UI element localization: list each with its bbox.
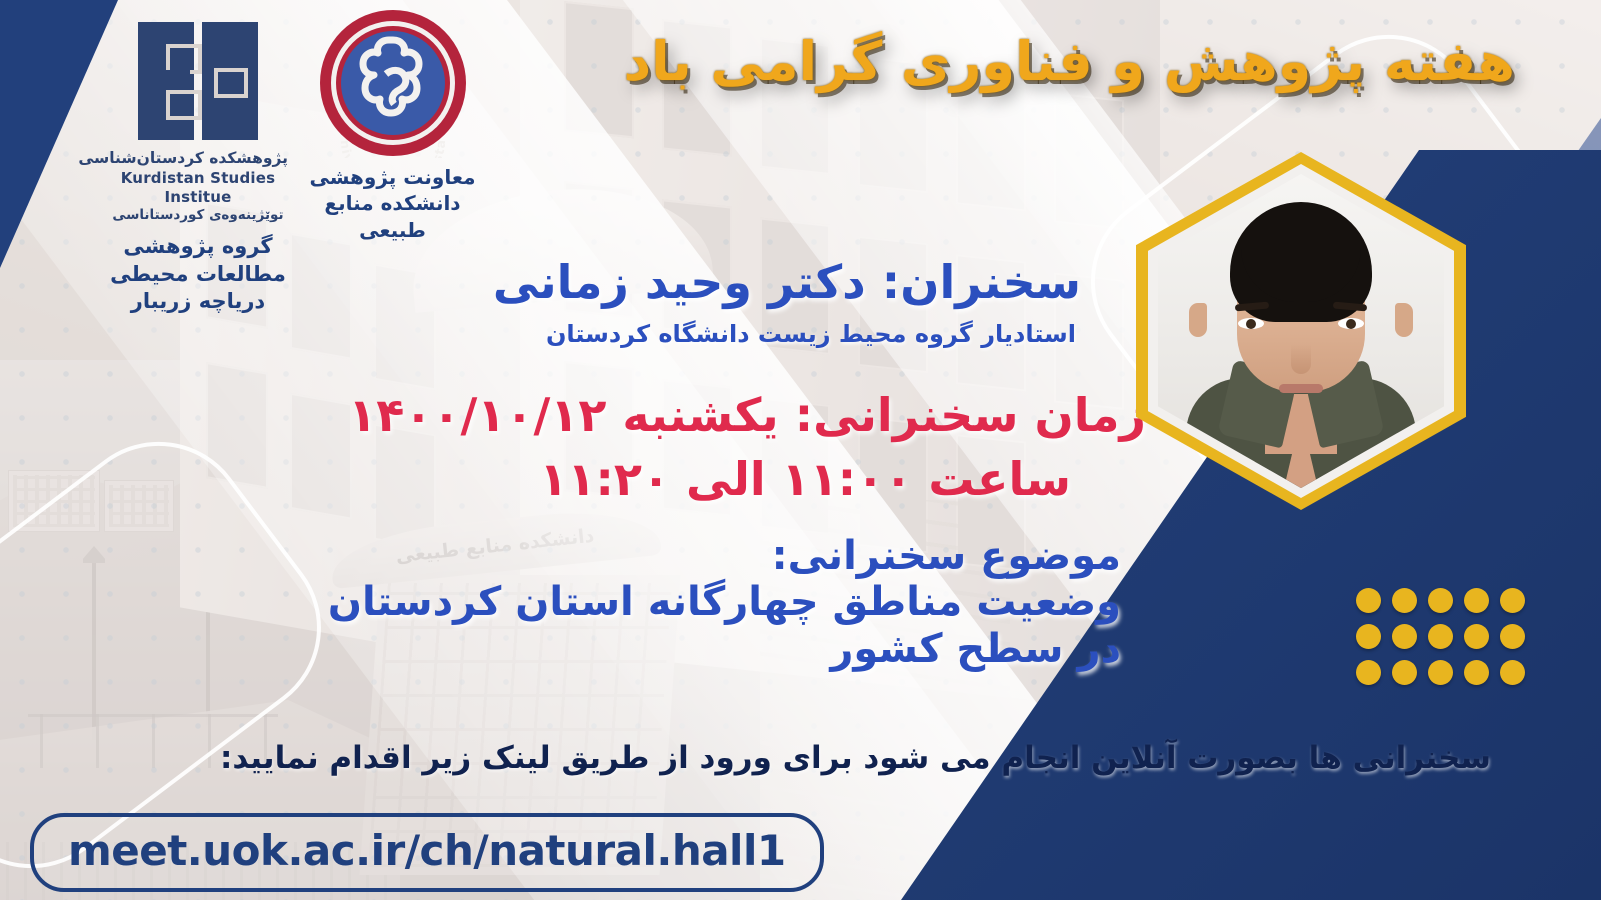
seminar-poster: دانشکده منابع طبیعی پژوهشکده کردستان‌شنا…: [0, 0, 1601, 900]
lecture-time: ساعت ۱۱:۰۰ الی ۱۱:۲۰: [539, 452, 1071, 506]
topic-line-3: در سطح کشور: [191, 626, 1121, 672]
university-seal-block: دانشگاه کردستان University of Kurdistan …: [300, 8, 485, 243]
lecture-topic: موضوع سخنرانی: وضعیت مناطق چهارگانه استا…: [191, 533, 1121, 672]
topic-line-2: وضعیت مناطق چهارگانه استان کردستان: [191, 579, 1121, 625]
speaker-portrait-icon: [1136, 152, 1466, 510]
ksi-monogram-icon: [138, 22, 258, 140]
speaker-affiliation: استادیار گروه محیط زیست دانشگاه کردستان: [546, 320, 1076, 348]
topic-label: موضوع سخنرانی:: [191, 533, 1121, 579]
speaker-name: سخنران: دکتر وحید زمانی: [493, 255, 1081, 309]
institute-name-ku: توێژینەوەی کوردستاناسی: [108, 207, 288, 224]
lecture-date: زمان سخنرانی: یکشنبه ۱۴۰۰/۱۰/۱۲: [348, 388, 1146, 442]
university-seal-icon: دانشگاه کردستان University of Kurdistan: [318, 8, 468, 158]
meeting-link-box[interactable]: meet.uok.ac.ir/ch/natural.hall1: [30, 813, 824, 892]
poster-headline: هفته پژوهش و فناوری گرامی باد: [623, 30, 1515, 93]
meeting-link[interactable]: meet.uok.ac.ir/ch/natural.hall1: [68, 826, 786, 875]
research-group-line2: مطالعات محیطی دریاچه زریبار: [108, 261, 288, 316]
seal-caption-line2: دانشکده منابع طبیعی: [300, 190, 485, 243]
decorative-dot-grid: [1345, 588, 1525, 696]
institute-name-fa: پژوهشکده کردستان‌شناسی: [108, 149, 288, 169]
institute-logo-block: پژوهشکده کردستان‌شناسی Kurdistan Studies…: [108, 22, 288, 315]
online-access-note: سخنرانی ها بصورت آنلاین انجام می شود برا…: [220, 740, 1491, 776]
institute-name-en: Kurdistan Studies Institue: [108, 169, 288, 207]
seal-caption-line1: معاونت پژوهشی: [300, 164, 485, 190]
research-group-line1: گروه پژوهشی: [108, 233, 288, 260]
